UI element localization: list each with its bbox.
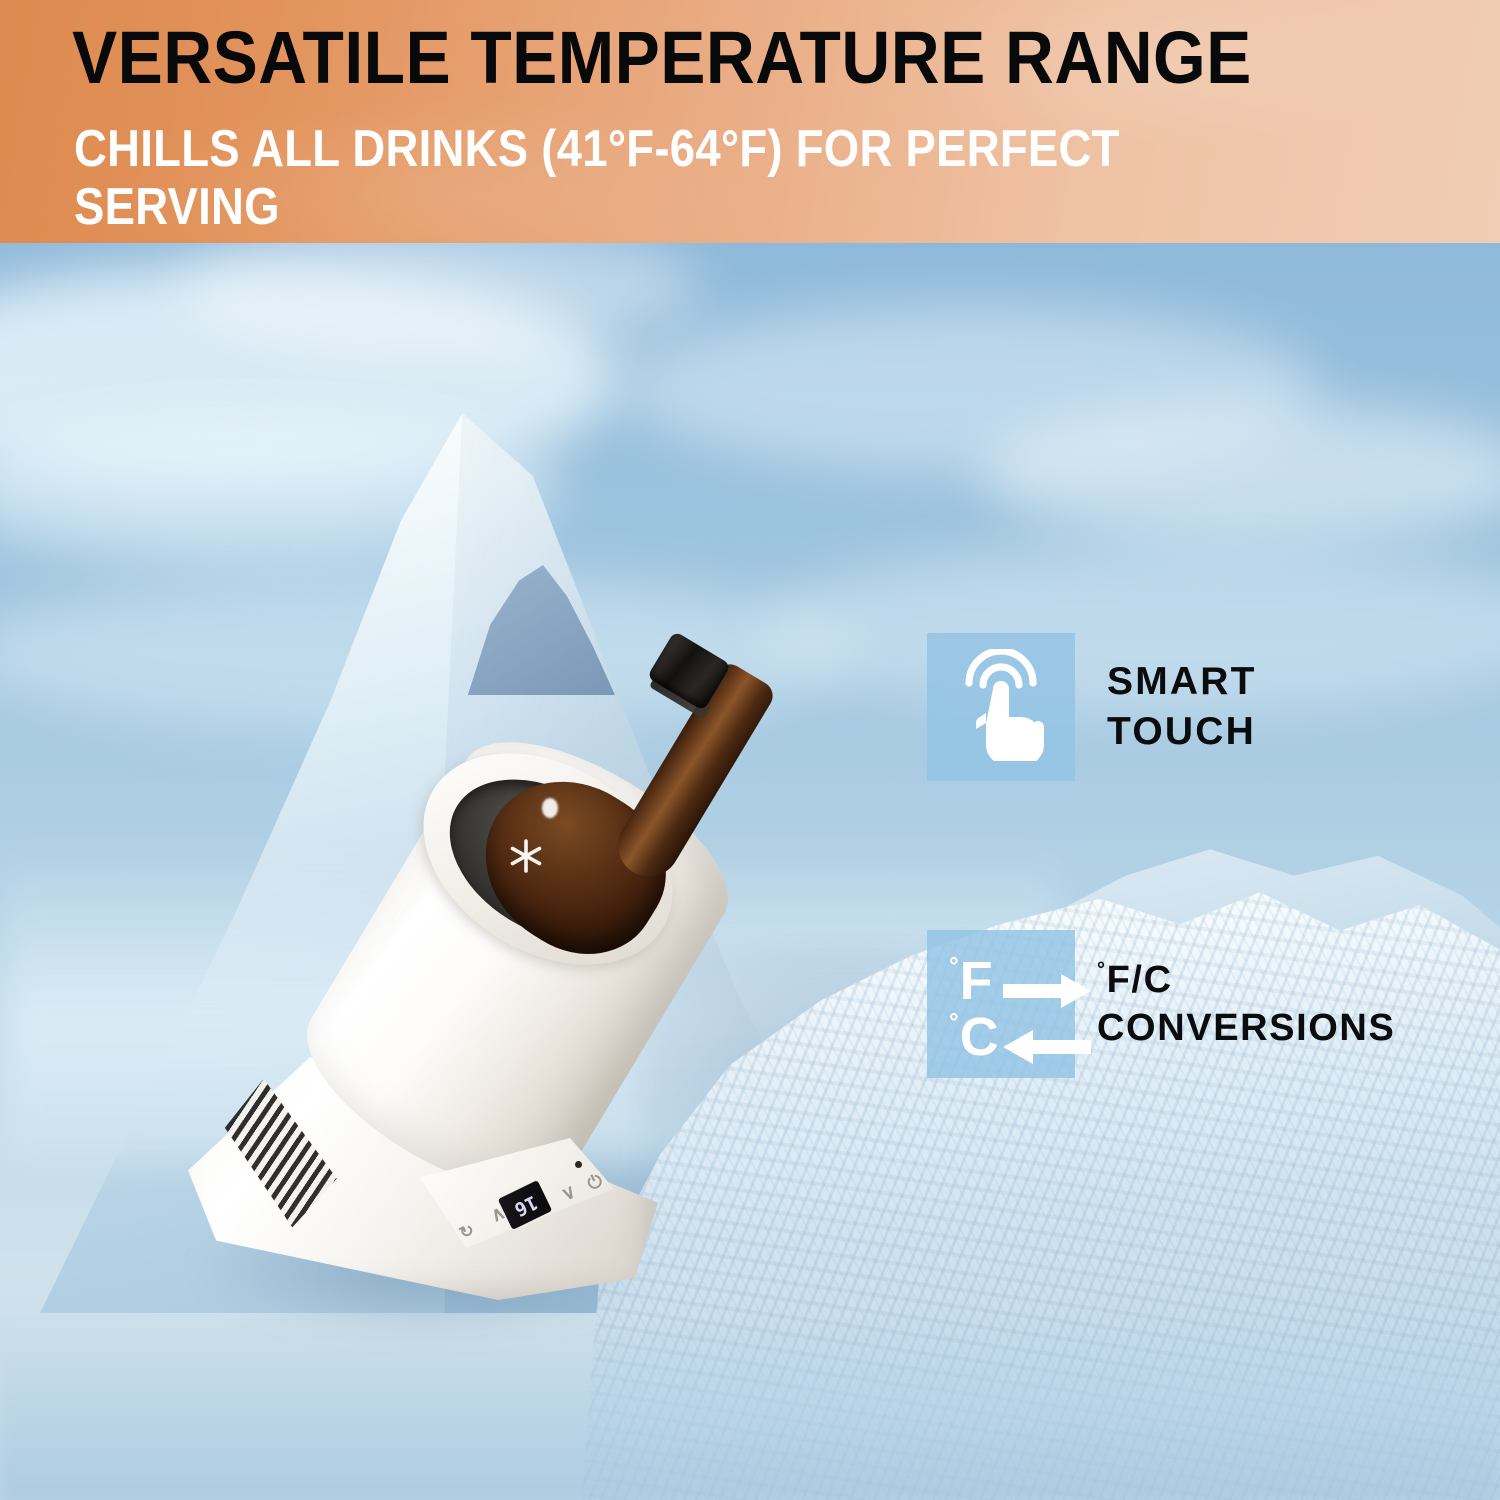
badge-icon-tile (927, 633, 1075, 781)
badge-label: SMART TOUCH (1107, 657, 1257, 757)
cloud-wisp (0, 263, 620, 493)
badge-icon-tile: °F °C (927, 930, 1075, 1078)
page-title: VERSATILE TEMPERATURE RANGE (72, 18, 1252, 98)
indicator-led (575, 1161, 582, 1168)
degree-symbol-label-f: ° (1097, 959, 1107, 981)
celsius-symbol: °C (949, 1006, 999, 1068)
letter-c: C (960, 1006, 999, 1068)
feature-badge-smart-touch: SMART TOUCH (927, 633, 1257, 781)
cloud-wisp (620, 303, 1320, 473)
badge-label-text: F/C CONVERSIONS (1097, 959, 1395, 1049)
badge-label: °F/C CONVERSIONS (1097, 956, 1395, 1052)
bottle-highlight (542, 798, 558, 818)
fahrenheit-symbol: °F (949, 950, 993, 1012)
temperature-value: 16 (511, 1191, 540, 1218)
product-image (170, 690, 730, 1330)
letter-f: F (960, 950, 993, 1012)
cloud-wisp (980, 403, 1500, 543)
header-band: VERSATILE TEMPERATURE RANGE CHILLS ALL D… (0, 0, 1500, 243)
touch-hand-icon (949, 649, 1053, 766)
snowflake-icon (508, 838, 544, 874)
foreground-snow-band (0, 1323, 1500, 1500)
product-feature-banner: VERSATILE TEMPERATURE RANGE CHILLS ALL D… (0, 0, 1500, 1500)
page-subtitle: CHILLS ALL DRINKS (41°F-64°F) FOR PERFEC… (74, 120, 1317, 236)
feature-badge-fc-conversions: °F °C °F/C CONVERSIONS (927, 930, 1395, 1078)
cloud-wisp (180, 243, 700, 353)
